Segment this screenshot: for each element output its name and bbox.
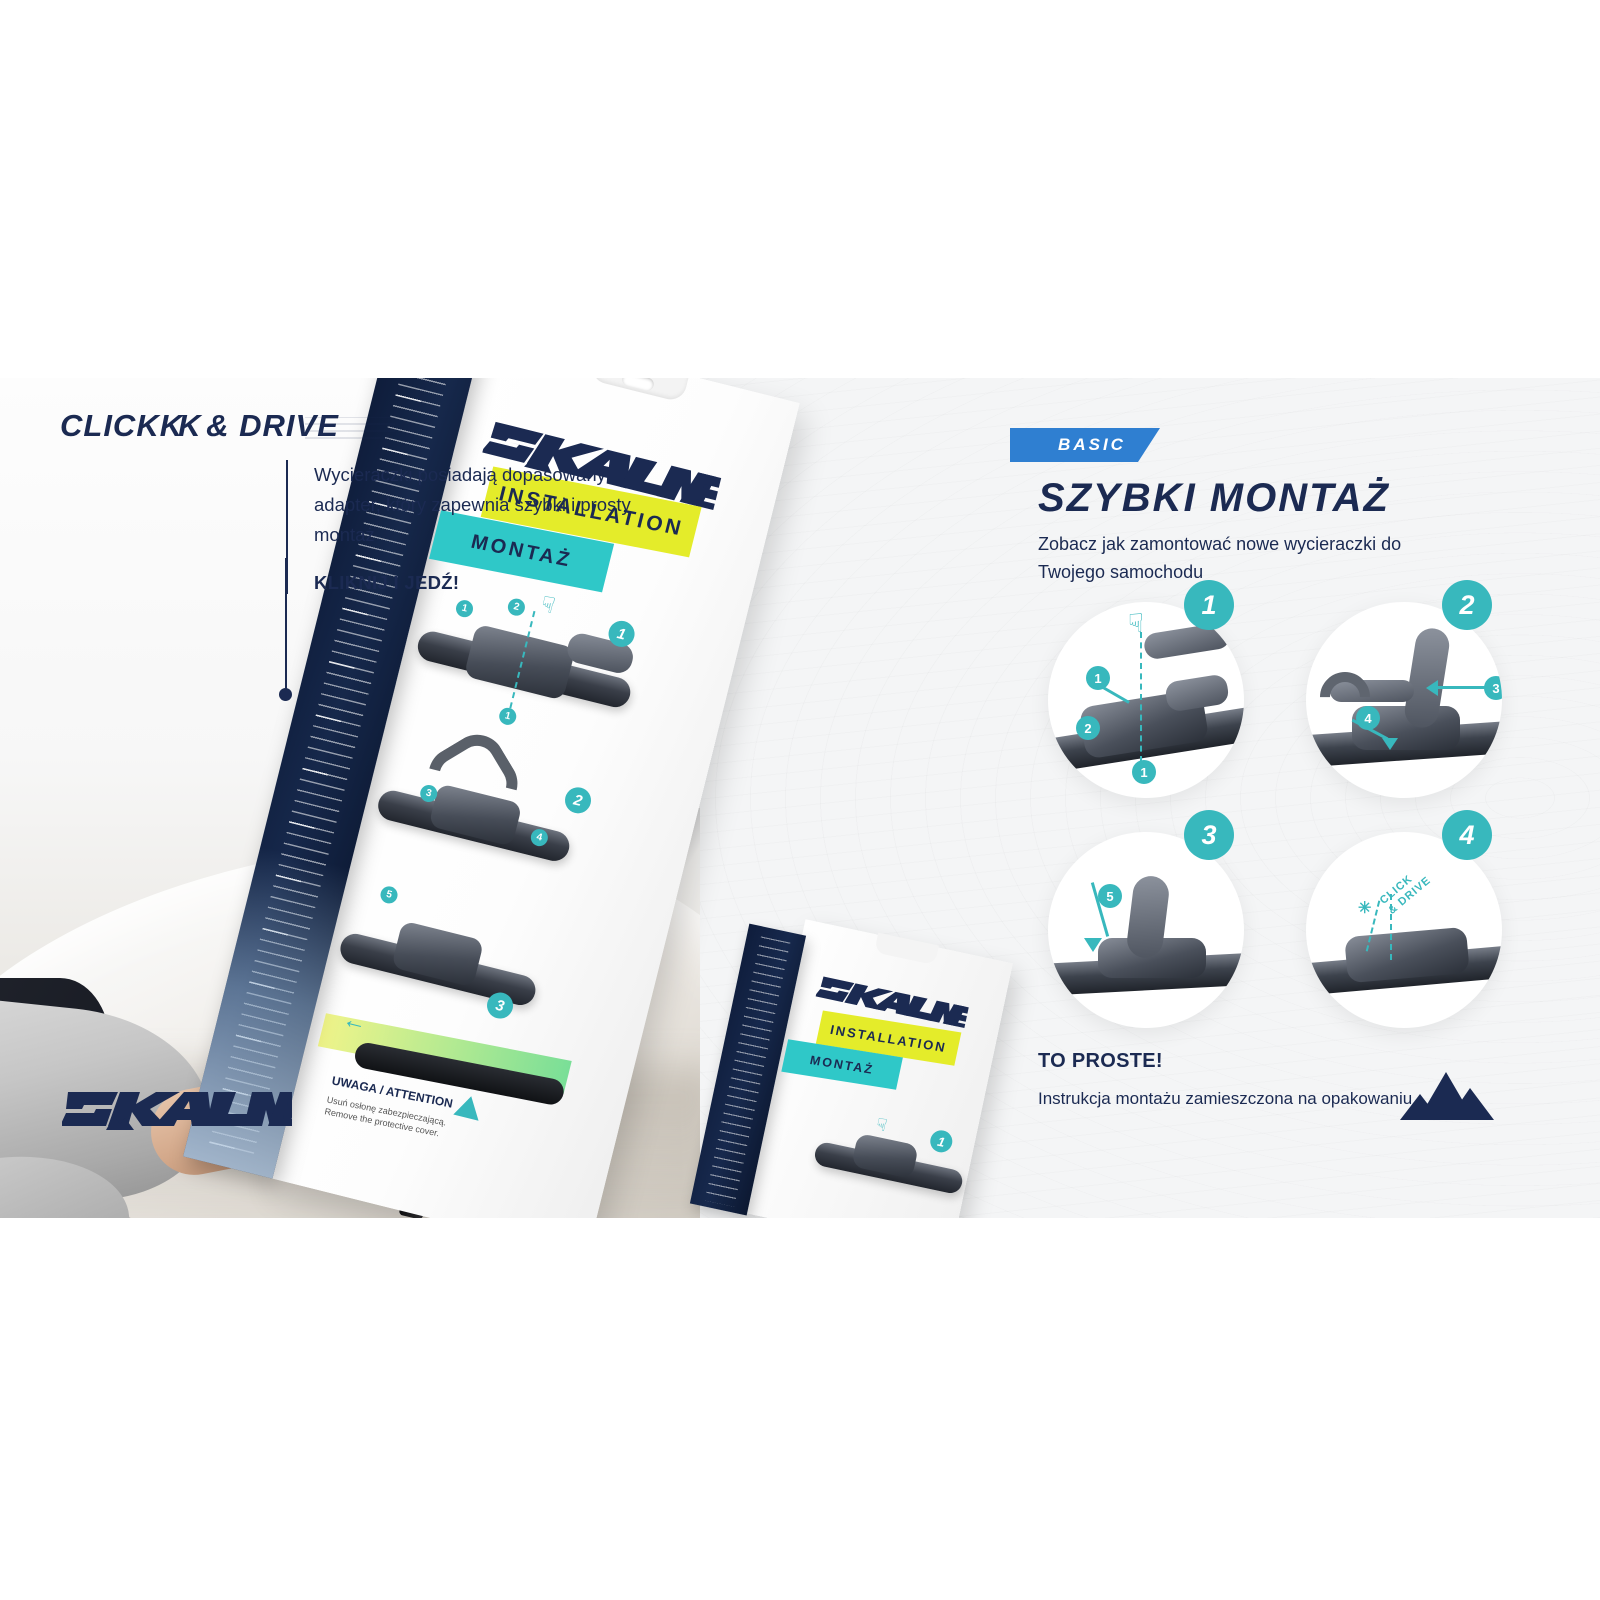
step-4-circle: CLICK & DRIVE ✳ bbox=[1306, 832, 1502, 1028]
package-small-montaz-text: MONTAŻ bbox=[809, 1053, 876, 1077]
skalne-logo bbox=[62, 1078, 292, 1145]
right-panel-title: SZYBKI MONTAŻ bbox=[1038, 476, 1390, 521]
skalne-logo-svg bbox=[62, 1078, 292, 1140]
pkg-s1-marker-b: 2 bbox=[506, 597, 527, 618]
step-4-click-drive-label: CLICK & DRIVE bbox=[1378, 864, 1434, 917]
steps-grid: ☟ 1 2 1 1 3 bbox=[1026, 580, 1586, 1040]
step-4: CLICK & DRIVE ✳ 4 bbox=[1284, 810, 1524, 1028]
step-1-marker-2: 2 bbox=[1076, 716, 1100, 740]
pkg-s1-marker-a: 1 bbox=[454, 598, 475, 619]
mountain-icon bbox=[1400, 1070, 1496, 1128]
step-2-marker-3: 3 bbox=[1484, 676, 1502, 700]
poster-root: CLICKKK & DRIVE Wycieraczki posiadają do… bbox=[0, 0, 1600, 1600]
basic-badge: BASIC bbox=[1010, 428, 1160, 462]
step-1-number: 1 bbox=[1184, 580, 1234, 630]
banner-frame: CLICKKK & DRIVE Wycieraczki posiadają do… bbox=[0, 378, 1600, 1218]
step-2-arrowhead-3 bbox=[1426, 680, 1438, 696]
pkg-s1-marker-c: 1 bbox=[497, 706, 518, 727]
basic-badge-label: BASIC bbox=[1044, 435, 1126, 455]
step-2-number: 2 bbox=[1442, 580, 1492, 630]
hand-press-icon: ☟ bbox=[1128, 608, 1144, 639]
right-panel: BASIC SZYBKI MONTAŻ Zobacz jak zamontowa… bbox=[1010, 378, 1600, 1218]
step-1-marker-1: 1 bbox=[1086, 666, 1110, 690]
callout-leader-dot bbox=[279, 688, 292, 701]
step-3-marker-5: 5 bbox=[1098, 884, 1122, 908]
speed-lines-decoration bbox=[305, 417, 395, 439]
step-1: ☟ 1 2 1 1 bbox=[1026, 580, 1266, 798]
callout-block: CLICKKK & DRIVE Wycieraczki posiadają do… bbox=[60, 408, 339, 444]
footer-text: Instrukcja montażu zamieszczona na opako… bbox=[1038, 1085, 1417, 1113]
right-panel-footer: TO PROSTE! Instrukcja montażu zamieszczo… bbox=[1038, 1050, 1417, 1113]
pkg-s3-marker-a: 5 bbox=[379, 885, 400, 906]
step-1-dashline bbox=[1140, 632, 1142, 762]
step-3: 5 3 bbox=[1026, 810, 1266, 1028]
step-1-clip bbox=[1164, 673, 1230, 712]
step-4-number: 4 bbox=[1442, 810, 1492, 860]
step-3-arrowhead-5 bbox=[1084, 938, 1102, 952]
step-1-circle: ☟ 1 2 1 bbox=[1048, 602, 1244, 798]
step-3-circle: 5 bbox=[1048, 832, 1244, 1028]
step-3-number: 3 bbox=[1184, 810, 1234, 860]
step-1-marker-3: 1 bbox=[1132, 760, 1156, 784]
step-2-circle: 3 4 bbox=[1306, 602, 1502, 798]
pkg-s3-adapter bbox=[391, 920, 484, 987]
hand-press-icon: ☟ bbox=[538, 591, 557, 619]
mountain-logo bbox=[1400, 1070, 1496, 1133]
step-2: 3 4 2 bbox=[1284, 580, 1524, 798]
footer-title: TO PROSTE! bbox=[1038, 1050, 1417, 1073]
step-2-marker-4: 4 bbox=[1356, 706, 1380, 730]
callout-body: Wycieraczki posiadają dopasowany adapter… bbox=[286, 460, 674, 594]
pkg-s2-number: 2 bbox=[562, 785, 594, 817]
callout-leader-line bbox=[285, 558, 287, 692]
callout-emphasis: KLIKNIJ I JEDŹ! bbox=[314, 572, 674, 594]
click-spark-icon: ✳ bbox=[1358, 902, 1372, 915]
package-small: INSTALLATION MONTAŻ 1 ☟ bbox=[743, 919, 1013, 1218]
cd-title-kk: KK bbox=[160, 408, 197, 443]
step-2-arrowhead-4 bbox=[1382, 738, 1398, 750]
click-and-drive-title: CLICKKK & DRIVE bbox=[60, 408, 339, 444]
step-2-arrow-3 bbox=[1434, 686, 1488, 689]
callout-paragraph: Wycieraczki posiadają dopasowany adapter… bbox=[314, 460, 674, 550]
cd-title-part1: CLICK bbox=[60, 408, 160, 443]
right-panel-subtitle: Zobacz jak zamontować nowe wycieraczki d… bbox=[1038, 530, 1458, 586]
